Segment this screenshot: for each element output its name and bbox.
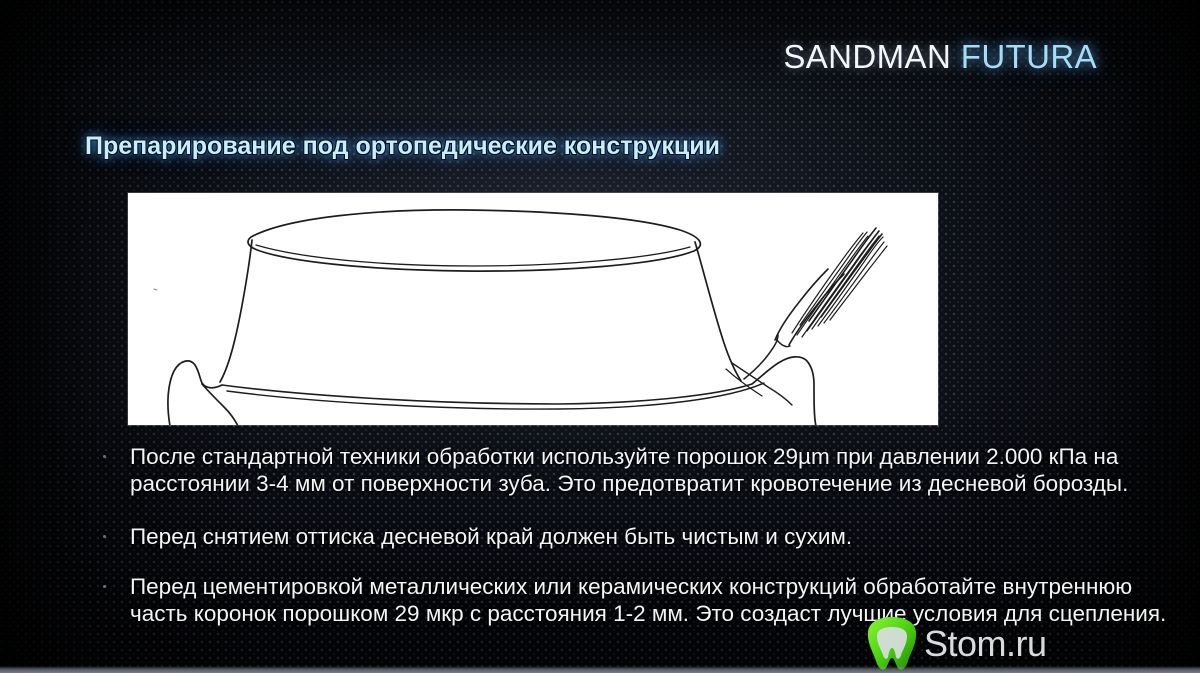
bullet-dot-icon bbox=[103, 585, 106, 588]
bullet-text: После стандартной техники обработки испо… bbox=[130, 443, 1173, 497]
bottom-edge-strip bbox=[0, 666, 1200, 673]
bullet-list: После стандартной техники обработки испо… bbox=[98, 443, 1173, 645]
brand-header: SANDMAN FUTURA bbox=[783, 40, 1097, 73]
slide: SANDMAN FUTURA Препарирование под ортопе… bbox=[0, 0, 1200, 673]
page-title: Препарирование под ортопедические констр… bbox=[85, 133, 720, 161]
list-item: Перед снятием оттиска десневой край долж… bbox=[98, 523, 1173, 550]
brand-secondary: FUTURA bbox=[961, 38, 1097, 75]
list-item: После стандартной техники обработки испо… bbox=[98, 443, 1173, 497]
brand-primary: SANDMAN bbox=[783, 38, 951, 75]
bullet-text: Перед снятием оттиска десневой край долж… bbox=[130, 523, 1173, 550]
bullet-text: Перед цементировкой металлических или ке… bbox=[130, 573, 1173, 627]
tooth-sketch-svg bbox=[128, 193, 938, 425]
tooth-preparation-illustration bbox=[128, 193, 938, 425]
list-item: Перед цементировкой металлических или ке… bbox=[98, 573, 1173, 627]
bullet-dot-icon bbox=[103, 455, 106, 458]
bullet-dot-icon bbox=[103, 535, 106, 538]
